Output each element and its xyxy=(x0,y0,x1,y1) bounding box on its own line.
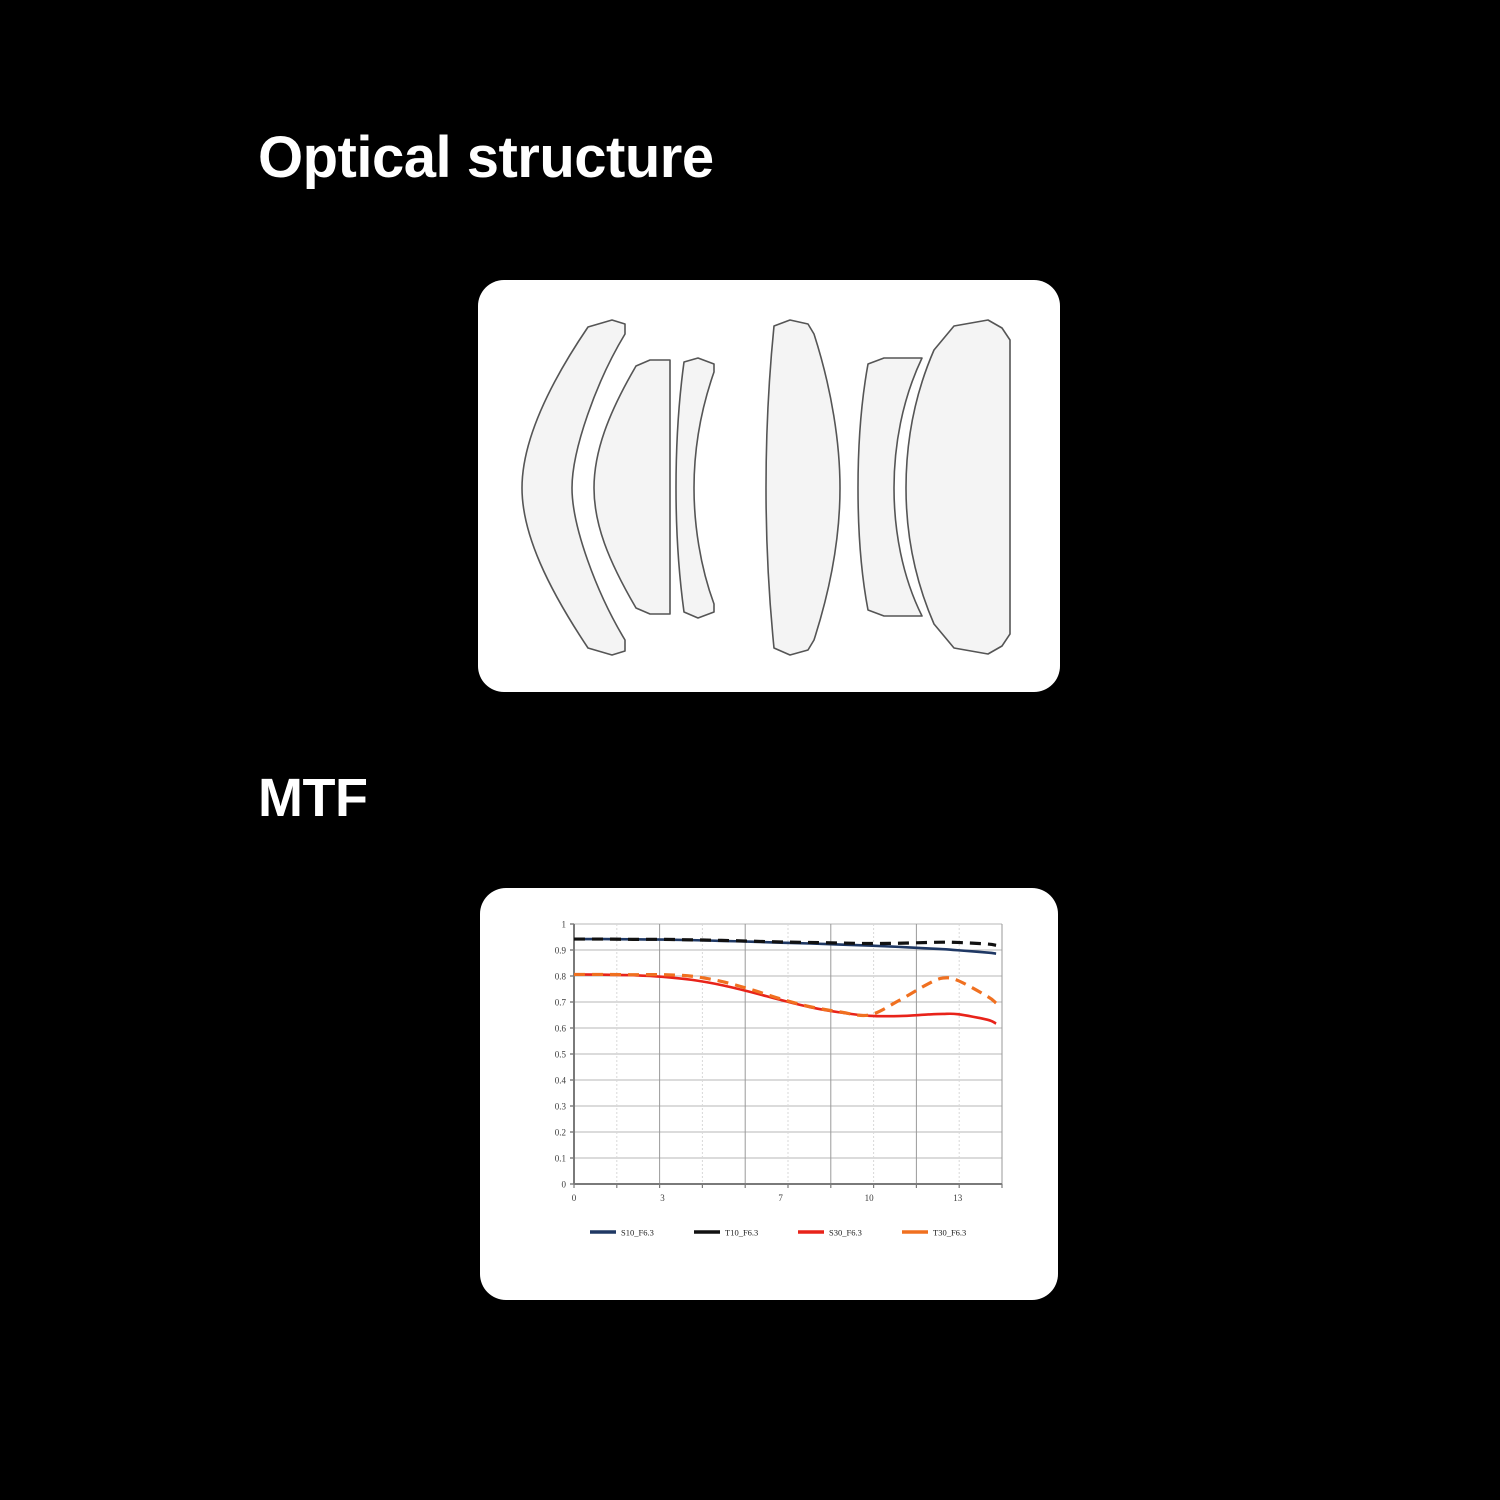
mtf-legend: S10_F6.3T10_F6.3S30_F6.3T30_F6.3 xyxy=(590,1228,966,1238)
lens-cross-section-diagram xyxy=(502,310,1036,662)
mtf-grid-layer xyxy=(574,924,1002,1184)
legend-label-s10-f6-3: S10_F6.3 xyxy=(621,1228,654,1238)
lens-element-2 xyxy=(594,360,670,614)
mtf-ticklabels-layer: 00.10.20.30.40.50.60.70.80.910371013 xyxy=(555,920,963,1204)
x-axis-tick-label: 13 xyxy=(953,1193,963,1203)
legend-label-s30-f6-3: S30_F6.3 xyxy=(829,1228,862,1238)
y-axis-tick-label: 0 xyxy=(562,1180,567,1190)
series-line-s10-f6-3 xyxy=(574,939,996,954)
y-axis-tick-label: 1 xyxy=(562,920,567,930)
y-axis-tick-label: 0.3 xyxy=(555,1102,567,1112)
x-axis-tick-label: 3 xyxy=(660,1193,665,1203)
mtf-series-layer xyxy=(574,939,996,1024)
x-axis-tick-label: 10 xyxy=(865,1193,875,1203)
lens-element-3 xyxy=(676,358,714,618)
series-line-t30-f6-3 xyxy=(574,974,996,1015)
x-axis-tick-label: 0 xyxy=(572,1193,577,1203)
mtf-card: 00.10.20.30.40.50.60.70.80.910371013 S10… xyxy=(480,888,1058,1300)
lens-elements-group xyxy=(522,320,1010,655)
mtf-axes-layer xyxy=(570,924,1002,1188)
y-axis-tick-label: 0.8 xyxy=(555,972,567,982)
y-axis-tick-label: 0.7 xyxy=(555,998,567,1008)
y-axis-tick-label: 0.6 xyxy=(555,1024,567,1034)
y-axis-tick-label: 0.1 xyxy=(555,1154,566,1164)
series-line-s30-f6-3 xyxy=(574,974,996,1023)
lens-element-4 xyxy=(766,320,840,655)
y-axis-tick-label: 0.9 xyxy=(555,946,567,956)
mtf-chart: 00.10.20.30.40.50.60.70.80.910371013 S10… xyxy=(532,916,1012,1276)
optical-structure-card xyxy=(478,280,1060,692)
legend-label-t10-f6-3: T10_F6.3 xyxy=(725,1228,758,1238)
legend-label-t30-f6-3: T30_F6.3 xyxy=(933,1228,966,1238)
lens-diagram-svg xyxy=(502,310,1036,662)
x-axis-tick-label: 7 xyxy=(778,1193,783,1203)
y-axis-tick-label: 0.2 xyxy=(555,1128,566,1138)
y-axis-tick-label: 0.5 xyxy=(555,1050,567,1060)
lens-element-6 xyxy=(906,320,1010,654)
page-title-mtf: MTF xyxy=(258,765,367,831)
mtf-chart-svg: 00.10.20.30.40.50.60.70.80.910371013 S10… xyxy=(532,916,1012,1276)
y-axis-tick-label: 0.4 xyxy=(555,1076,567,1086)
page-title-optical-structure: Optical structure xyxy=(258,123,714,193)
